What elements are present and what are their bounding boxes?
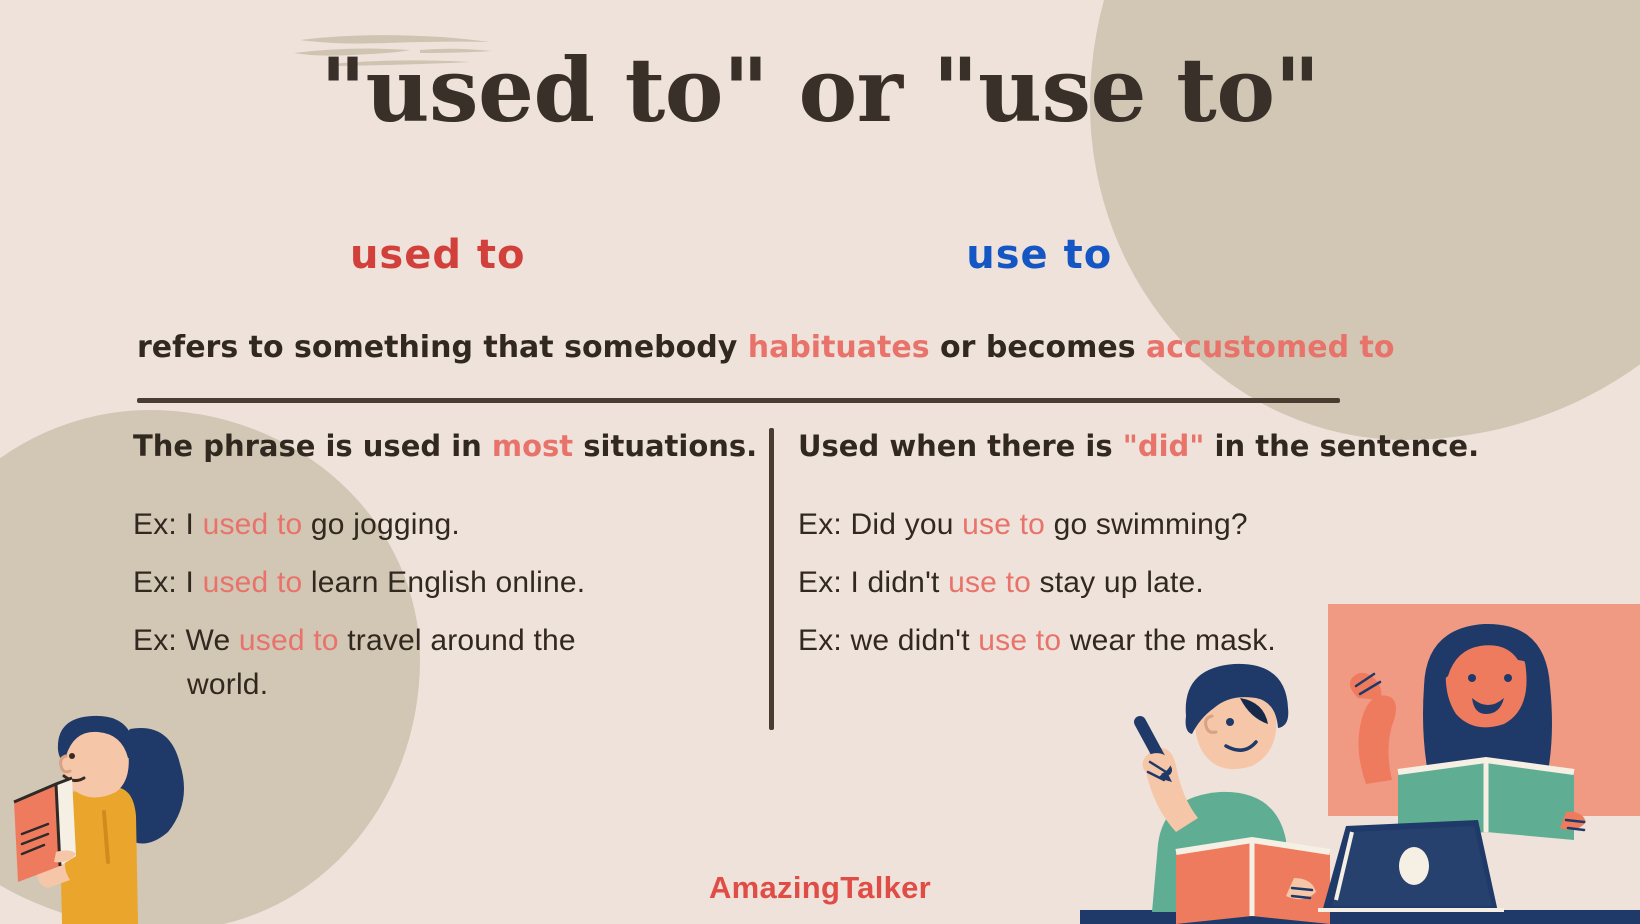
list-item: Ex: I used to go jogging.: [133, 510, 753, 540]
students-studying-illustration: [1080, 594, 1640, 924]
example-suffix: learn English online.: [302, 566, 585, 599]
left-rule-part2: situations.: [573, 429, 757, 463]
right-rule-highlight: "did": [1123, 429, 1205, 463]
example-prefix: Ex: We: [133, 624, 239, 657]
definition-highlight-habituates: habituates: [748, 330, 930, 365]
example-suffix: travel around the: [339, 624, 576, 657]
right-rule-part1: Used when there is: [798, 429, 1123, 463]
column-headings: used to use to: [137, 232, 1340, 278]
example-highlight: use to: [948, 566, 1031, 599]
list-item: Ex: I used to learn English online.: [133, 568, 753, 598]
column-heading-use-to: use to: [739, 232, 1341, 278]
left-rule-part1: The phrase is used in: [133, 429, 492, 463]
definition-line: refers to something that somebody habitu…: [137, 330, 1340, 365]
girl-reading-book-illustration: [0, 684, 230, 924]
definition-part2: or becomes: [930, 330, 1146, 365]
right-rule-part2: in the sentence.: [1204, 429, 1479, 463]
left-rule-heading: The phrase is used in most situations.: [133, 428, 753, 464]
left-examples-list: Ex: I used to go jogging. Ex: I used to …: [133, 510, 753, 700]
example-prefix: Ex: I didn't: [798, 566, 948, 599]
list-item: Ex: Did you use to go swimming?: [798, 510, 1398, 540]
example-suffix: go swimming?: [1045, 508, 1248, 541]
example-prefix: Ex: I: [133, 566, 203, 599]
example-prefix: Ex: Did you: [798, 508, 962, 541]
example-prefix: Ex: we didn't: [798, 624, 978, 657]
horizontal-divider: [137, 398, 1340, 403]
example-highlight: used to: [203, 508, 303, 541]
example-suffix: go jogging.: [302, 508, 460, 541]
vertical-divider: [769, 428, 774, 730]
example-highlight: use to: [962, 508, 1045, 541]
right-rule-heading: Used when there is "did" in the sentence…: [798, 428, 1398, 464]
example-highlight: used to: [239, 624, 339, 657]
example-highlight: used to: [203, 566, 303, 599]
page-title: "used to" or "use to": [0, 44, 1640, 136]
column-heading-used-to: used to: [137, 232, 739, 278]
left-rule-highlight: most: [492, 429, 573, 463]
example-prefix: Ex: I: [133, 508, 203, 541]
example-highlight: use to: [978, 624, 1061, 657]
infographic-canvas: "used to" or "use to" used to use to ref…: [0, 0, 1640, 924]
definition-part1: refers to something that somebody: [137, 330, 748, 365]
definition-highlight-accustomed: accustomed to: [1146, 330, 1394, 365]
